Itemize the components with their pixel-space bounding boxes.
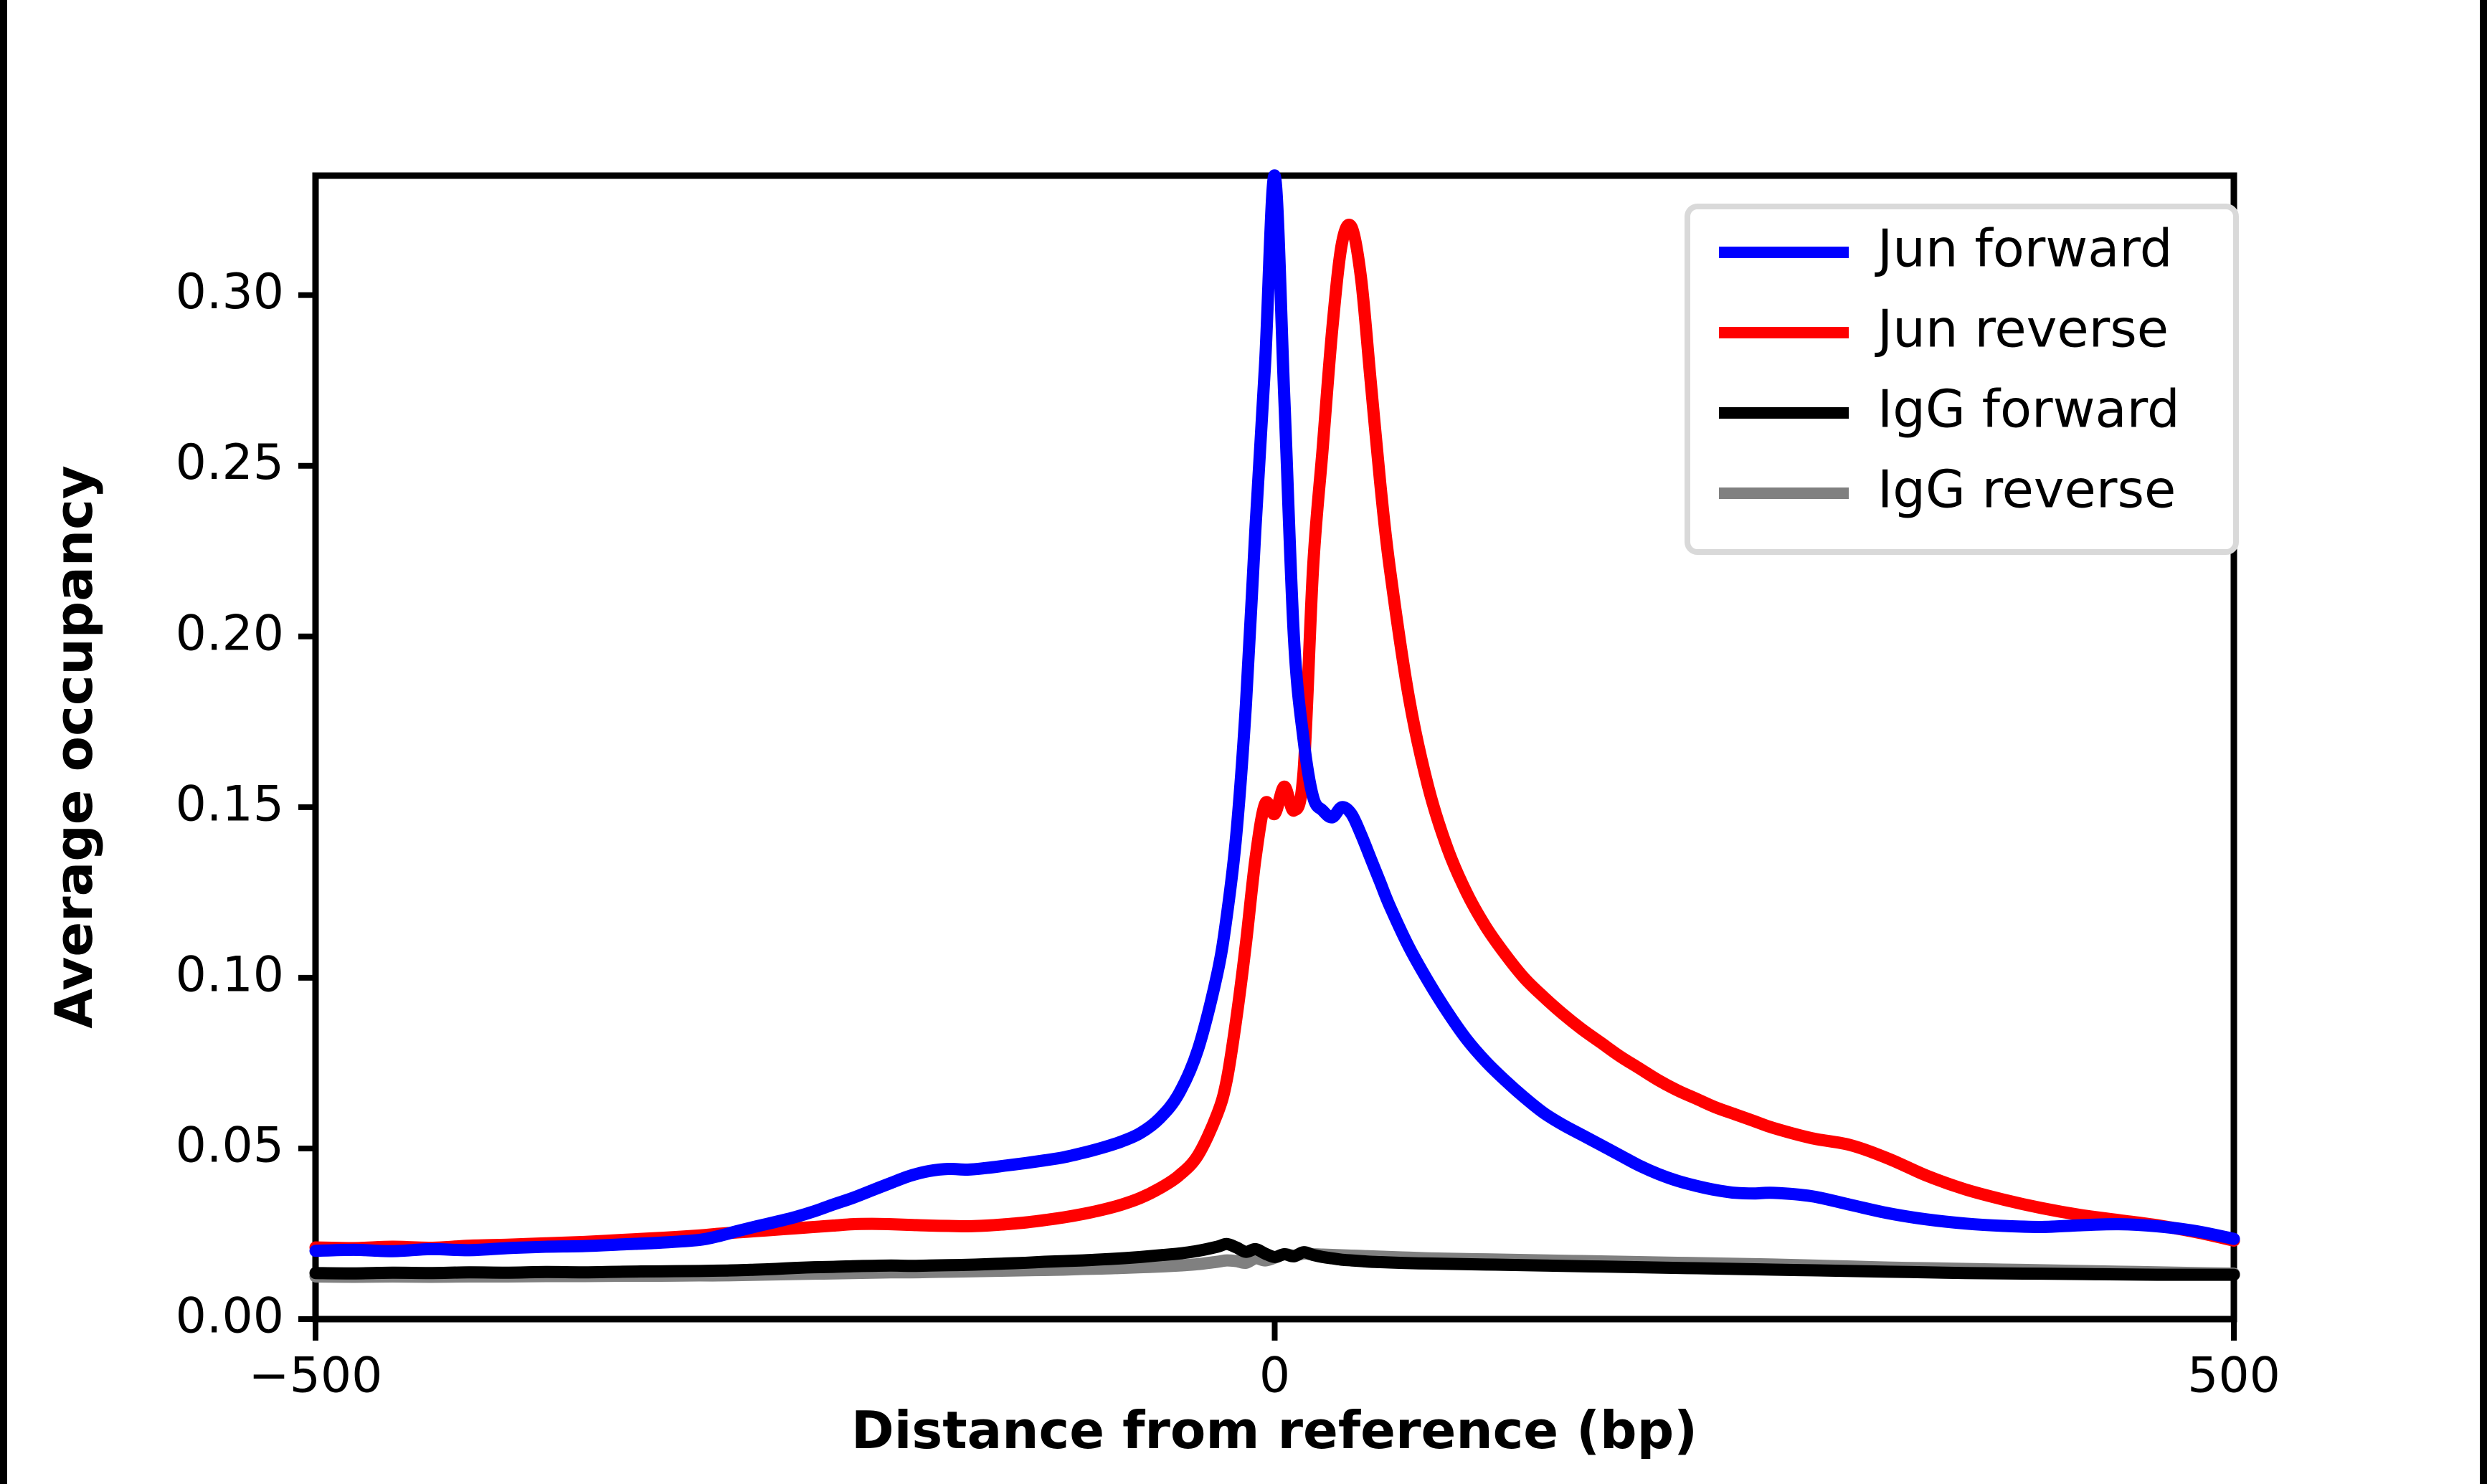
y-tick-label: 0.00 xyxy=(176,1288,284,1345)
x-tick-label: 0 xyxy=(1259,1348,1290,1404)
legend-label-igg-forward[interactable]: IgG forward xyxy=(1877,379,2180,439)
y-tick-label: 0.20 xyxy=(176,605,284,662)
legend-label-igg-reverse[interactable]: IgG reverse xyxy=(1877,460,2176,520)
y-tick-label: 0.25 xyxy=(176,434,284,491)
x-tick-label: 500 xyxy=(2187,1348,2280,1404)
legend-label-jun-forward[interactable]: Jun forward xyxy=(1875,219,2172,279)
x-axis-title: Distance from reference (bp) xyxy=(851,1400,1697,1460)
x-tick-label: −500 xyxy=(249,1348,383,1404)
y-tick-label: 0.30 xyxy=(176,264,284,320)
figure-canvas: 0.000.050.100.150.200.250.30 −5000500 Ju… xyxy=(7,0,2480,1484)
y-tick-label: 0.15 xyxy=(176,776,284,832)
y-tick-label: 0.10 xyxy=(176,946,284,1003)
y-axis-title: Average occupancy xyxy=(44,465,104,1029)
chart-plot[interactable]: 0.000.050.100.150.200.250.30 −5000500 Ju… xyxy=(7,0,2480,1484)
y-tick-label: 0.05 xyxy=(176,1117,284,1174)
legend-label-jun-reverse[interactable]: Jun reverse xyxy=(1875,299,2169,359)
chart-legend[interactable]: Jun forwardJun reverseIgG forwardIgG rev… xyxy=(1687,206,2236,552)
